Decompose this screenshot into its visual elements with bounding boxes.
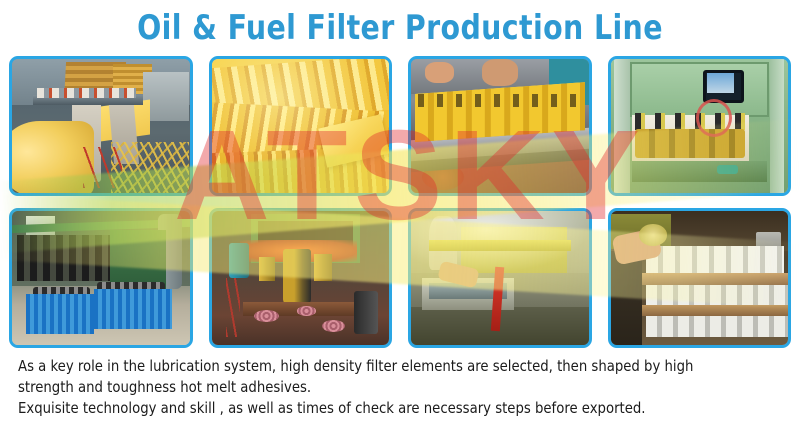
gallery-tile-3[interactable] — [408, 56, 592, 196]
caption-line-3: Exquisite technology and skill , as well… — [18, 398, 765, 419]
gallery-tile-7[interactable] — [408, 208, 592, 348]
caption-block: As a key role in the lubrication system,… — [18, 356, 765, 419]
photo-hydraulic-press-canisters — [212, 211, 390, 345]
gallery-tile-2[interactable] — [209, 56, 393, 196]
page-title: Oil & Fuel Filter Production Line — [28, 6, 772, 50]
gallery-tile-5[interactable] — [9, 208, 193, 348]
photo-filter-paper-slitting — [12, 59, 190, 193]
product-banner: Oil & Fuel Filter Production Line — [0, 0, 800, 428]
gallery-tile-1[interactable] — [9, 56, 193, 196]
photo-worker-wash-tank — [411, 211, 589, 345]
photo-workshop-racks-blue-crates — [12, 211, 190, 345]
caption-line-2: strength and toughness hot melt adhesive… — [18, 377, 765, 398]
caption-line-1: As a key role in the lubrication system,… — [18, 356, 765, 377]
photo-gallery-grid — [9, 56, 791, 348]
gallery-tile-4[interactable] — [608, 56, 792, 196]
photo-conveyor-yellow-elements — [411, 59, 589, 193]
gallery-tile-8[interactable] — [608, 208, 792, 348]
gallery-tile-6[interactable] — [209, 208, 393, 348]
photo-finished-canisters-pallets — [611, 211, 789, 345]
photo-pleated-filter-media — [212, 59, 390, 193]
photo-green-machine-hmi-panel — [611, 59, 789, 193]
